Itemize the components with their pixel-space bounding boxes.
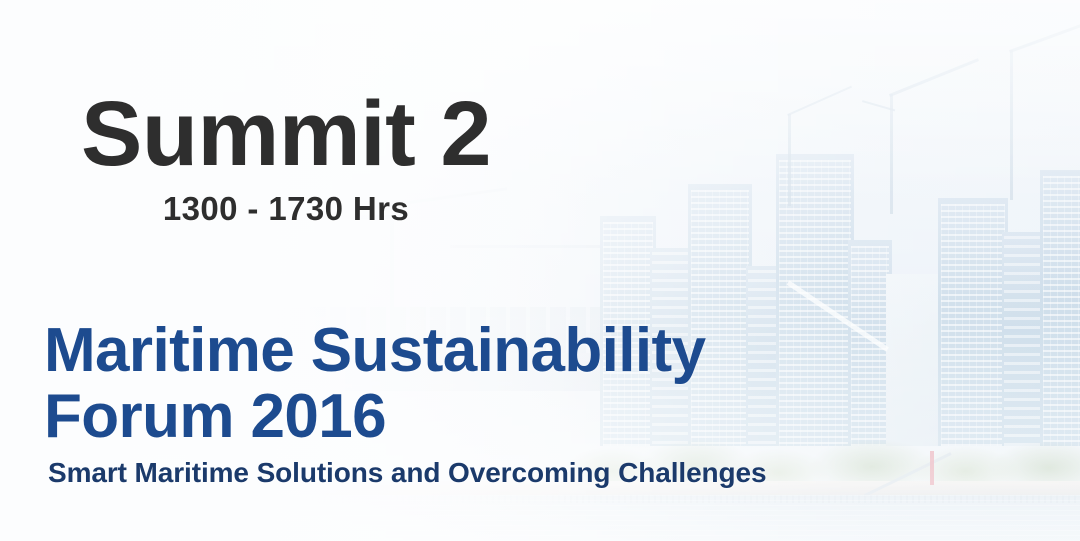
banner-content: Summit 2 1300 - 1730 Hrs Maritime Sustai… (0, 0, 1080, 541)
session-time: 1300 - 1730 Hrs (36, 190, 536, 228)
event-title-line-1: Maritime Sustainability (44, 318, 1044, 384)
session-title: Summit 2 (36, 88, 536, 182)
event-title: Maritime Sustainability Forum 2016 (44, 318, 1044, 451)
event-title-block: Maritime Sustainability Forum 2016 (44, 318, 1044, 451)
session-block: Summit 2 1300 - 1730 Hrs (36, 88, 536, 228)
event-banner: Summit 2 1300 - 1730 Hrs Maritime Sustai… (0, 0, 1080, 541)
event-tagline: Smart Maritime Solutions and Overcoming … (48, 457, 767, 489)
event-title-line-2: Forum 2016 (44, 384, 1044, 450)
